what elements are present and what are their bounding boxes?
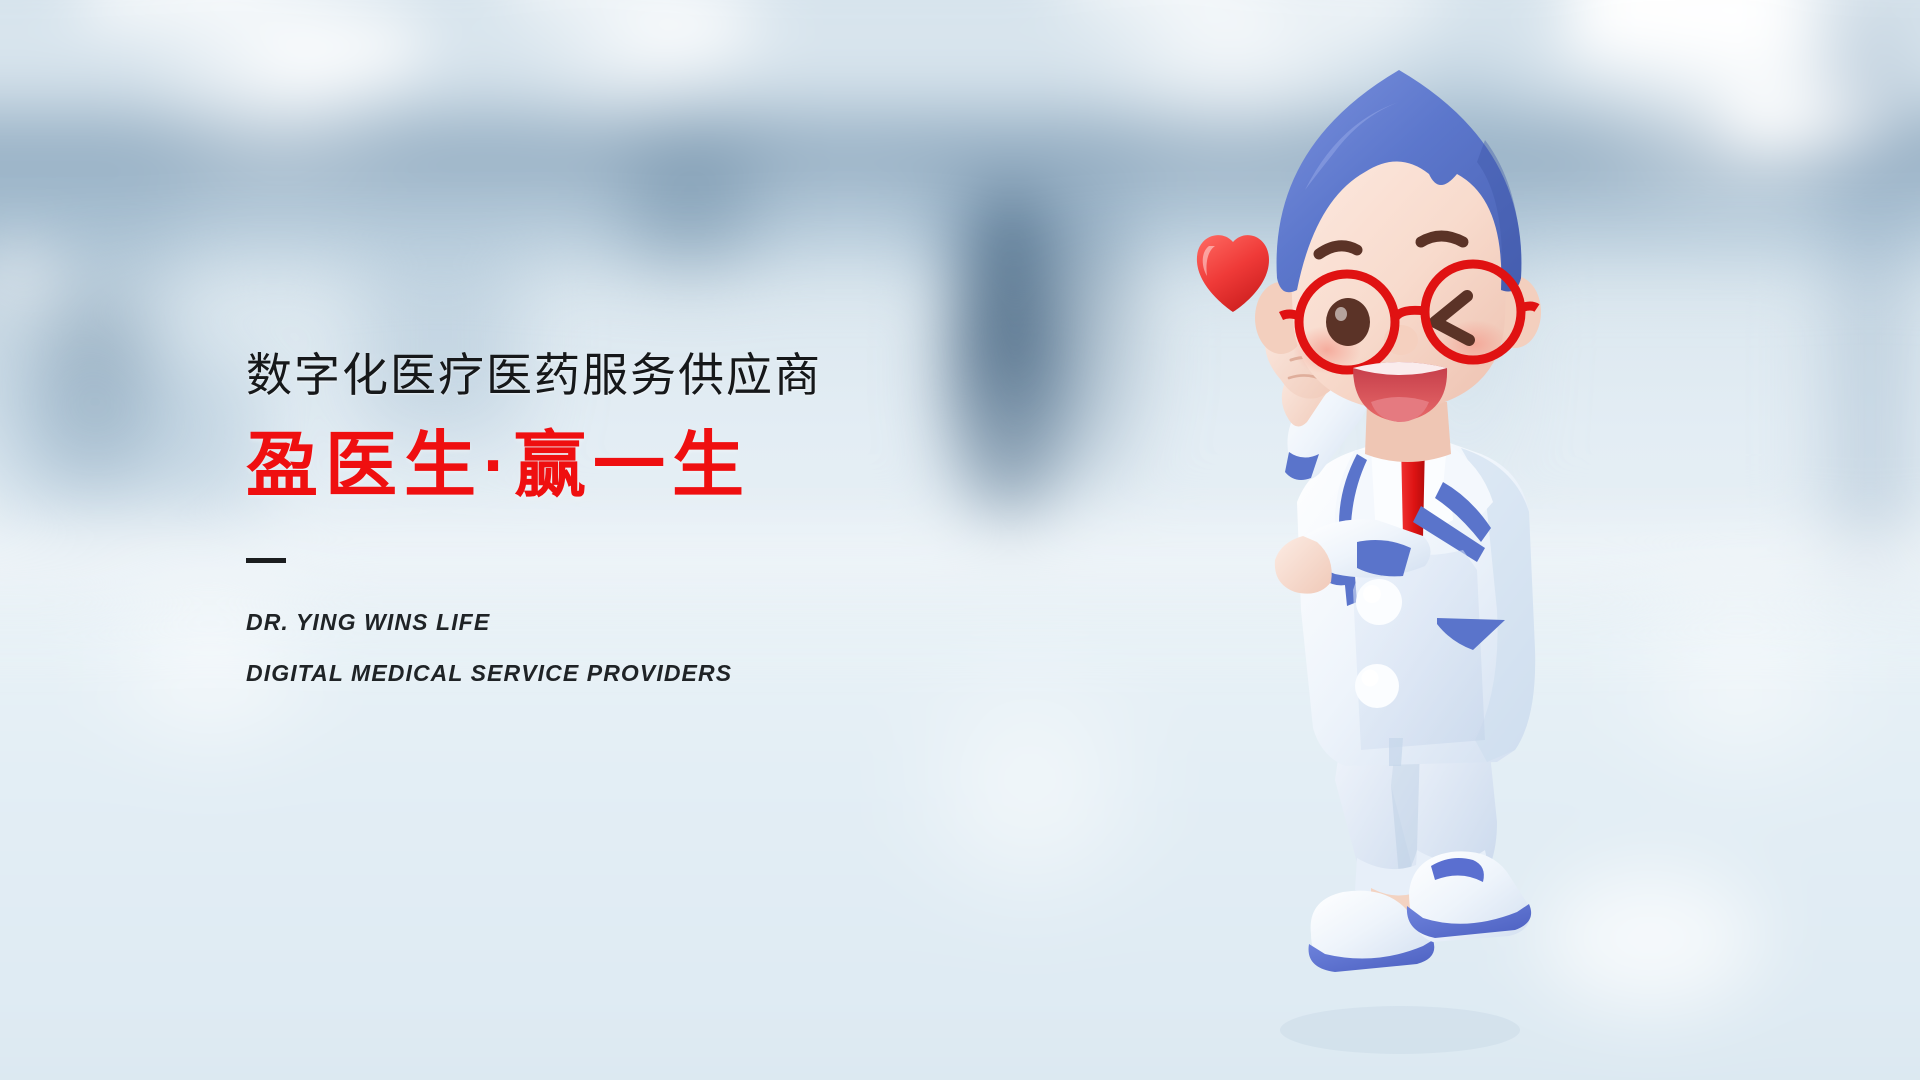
- divider-rule: [246, 558, 286, 563]
- left-eye-highlight: [1335, 307, 1347, 321]
- coat-button: [1356, 579, 1402, 625]
- page-title: 数字化医疗医药服务供应商: [246, 352, 1106, 398]
- background-structure: [1840, 0, 1900, 560]
- hero-copy-block: 数字化医疗医药服务供应商 盈医生·赢一生 DR. YING WINS LIFE …: [246, 352, 1106, 685]
- eyebrow-right: [1421, 236, 1463, 242]
- glasses-temple-left: [1281, 314, 1299, 316]
- coat-button-highlight: [1363, 585, 1381, 603]
- background-structure: [630, 130, 750, 260]
- floating-red-heart: [1197, 235, 1269, 312]
- floor-reflection: [900, 640, 1160, 940]
- 3d-cartoon-doctor-illustration: [1185, 50, 1605, 1060]
- english-subtitle-block: DR. YING WINS LIFE DIGITAL MEDICAL SERVI…: [246, 611, 1106, 685]
- sleeve-accent-lower: [1357, 540, 1411, 576]
- body-coat-group: [1297, 442, 1535, 766]
- mascot-ground-shadow: [1280, 1006, 1520, 1054]
- coat-slit: [1389, 738, 1403, 766]
- floor-reflection: [1600, 560, 1880, 800]
- english-subtitle-line-1: DR. YING WINS LIFE: [246, 611, 1106, 634]
- shoes-group: [1309, 851, 1532, 972]
- slogan-text: 盈医生·赢一生: [246, 430, 1106, 502]
- coat-button-highlight: [1362, 670, 1379, 687]
- background-person-silhouette: [40, 300, 150, 490]
- english-subtitle-line-2: DIGITAL MEDICAL SERVICE PROVIDERS: [246, 662, 1106, 685]
- glasses-temple-right: [1521, 306, 1537, 308]
- hero-banner: 数字化医疗医药服务供应商 盈医生·赢一生 DR. YING WINS LIFE …: [0, 0, 1920, 1080]
- coat-button: [1355, 664, 1399, 708]
- left-eye-open: [1326, 298, 1370, 346]
